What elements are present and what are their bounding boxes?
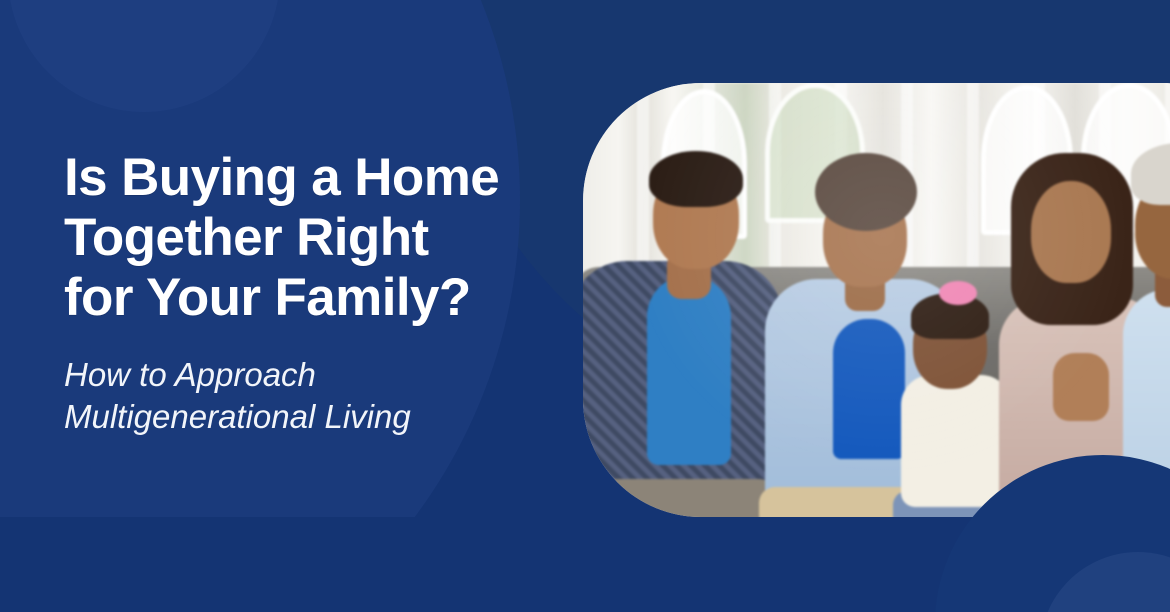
headline-line-3: for Your Family? — [64, 268, 584, 328]
subheadline-line-1: How to Approach — [64, 354, 584, 396]
page-subtitle: How to Approach Multigenerational Living — [64, 354, 584, 438]
headline-line-1: Is Buying a Home — [64, 148, 584, 208]
family-photo-image — [583, 83, 1170, 517]
promo-banner: Is Buying a Home Together Right for Your… — [0, 0, 1170, 612]
subheadline-line-2: Multigenerational Living — [64, 396, 584, 438]
banner-copy: Is Buying a Home Together Right for Your… — [64, 148, 584, 437]
headline-line-2: Together Right — [64, 208, 584, 268]
family-photo — [583, 83, 1170, 517]
photo-highlight-overlay — [583, 83, 1170, 517]
page-title: Is Buying a Home Together Right for Your… — [64, 148, 584, 328]
